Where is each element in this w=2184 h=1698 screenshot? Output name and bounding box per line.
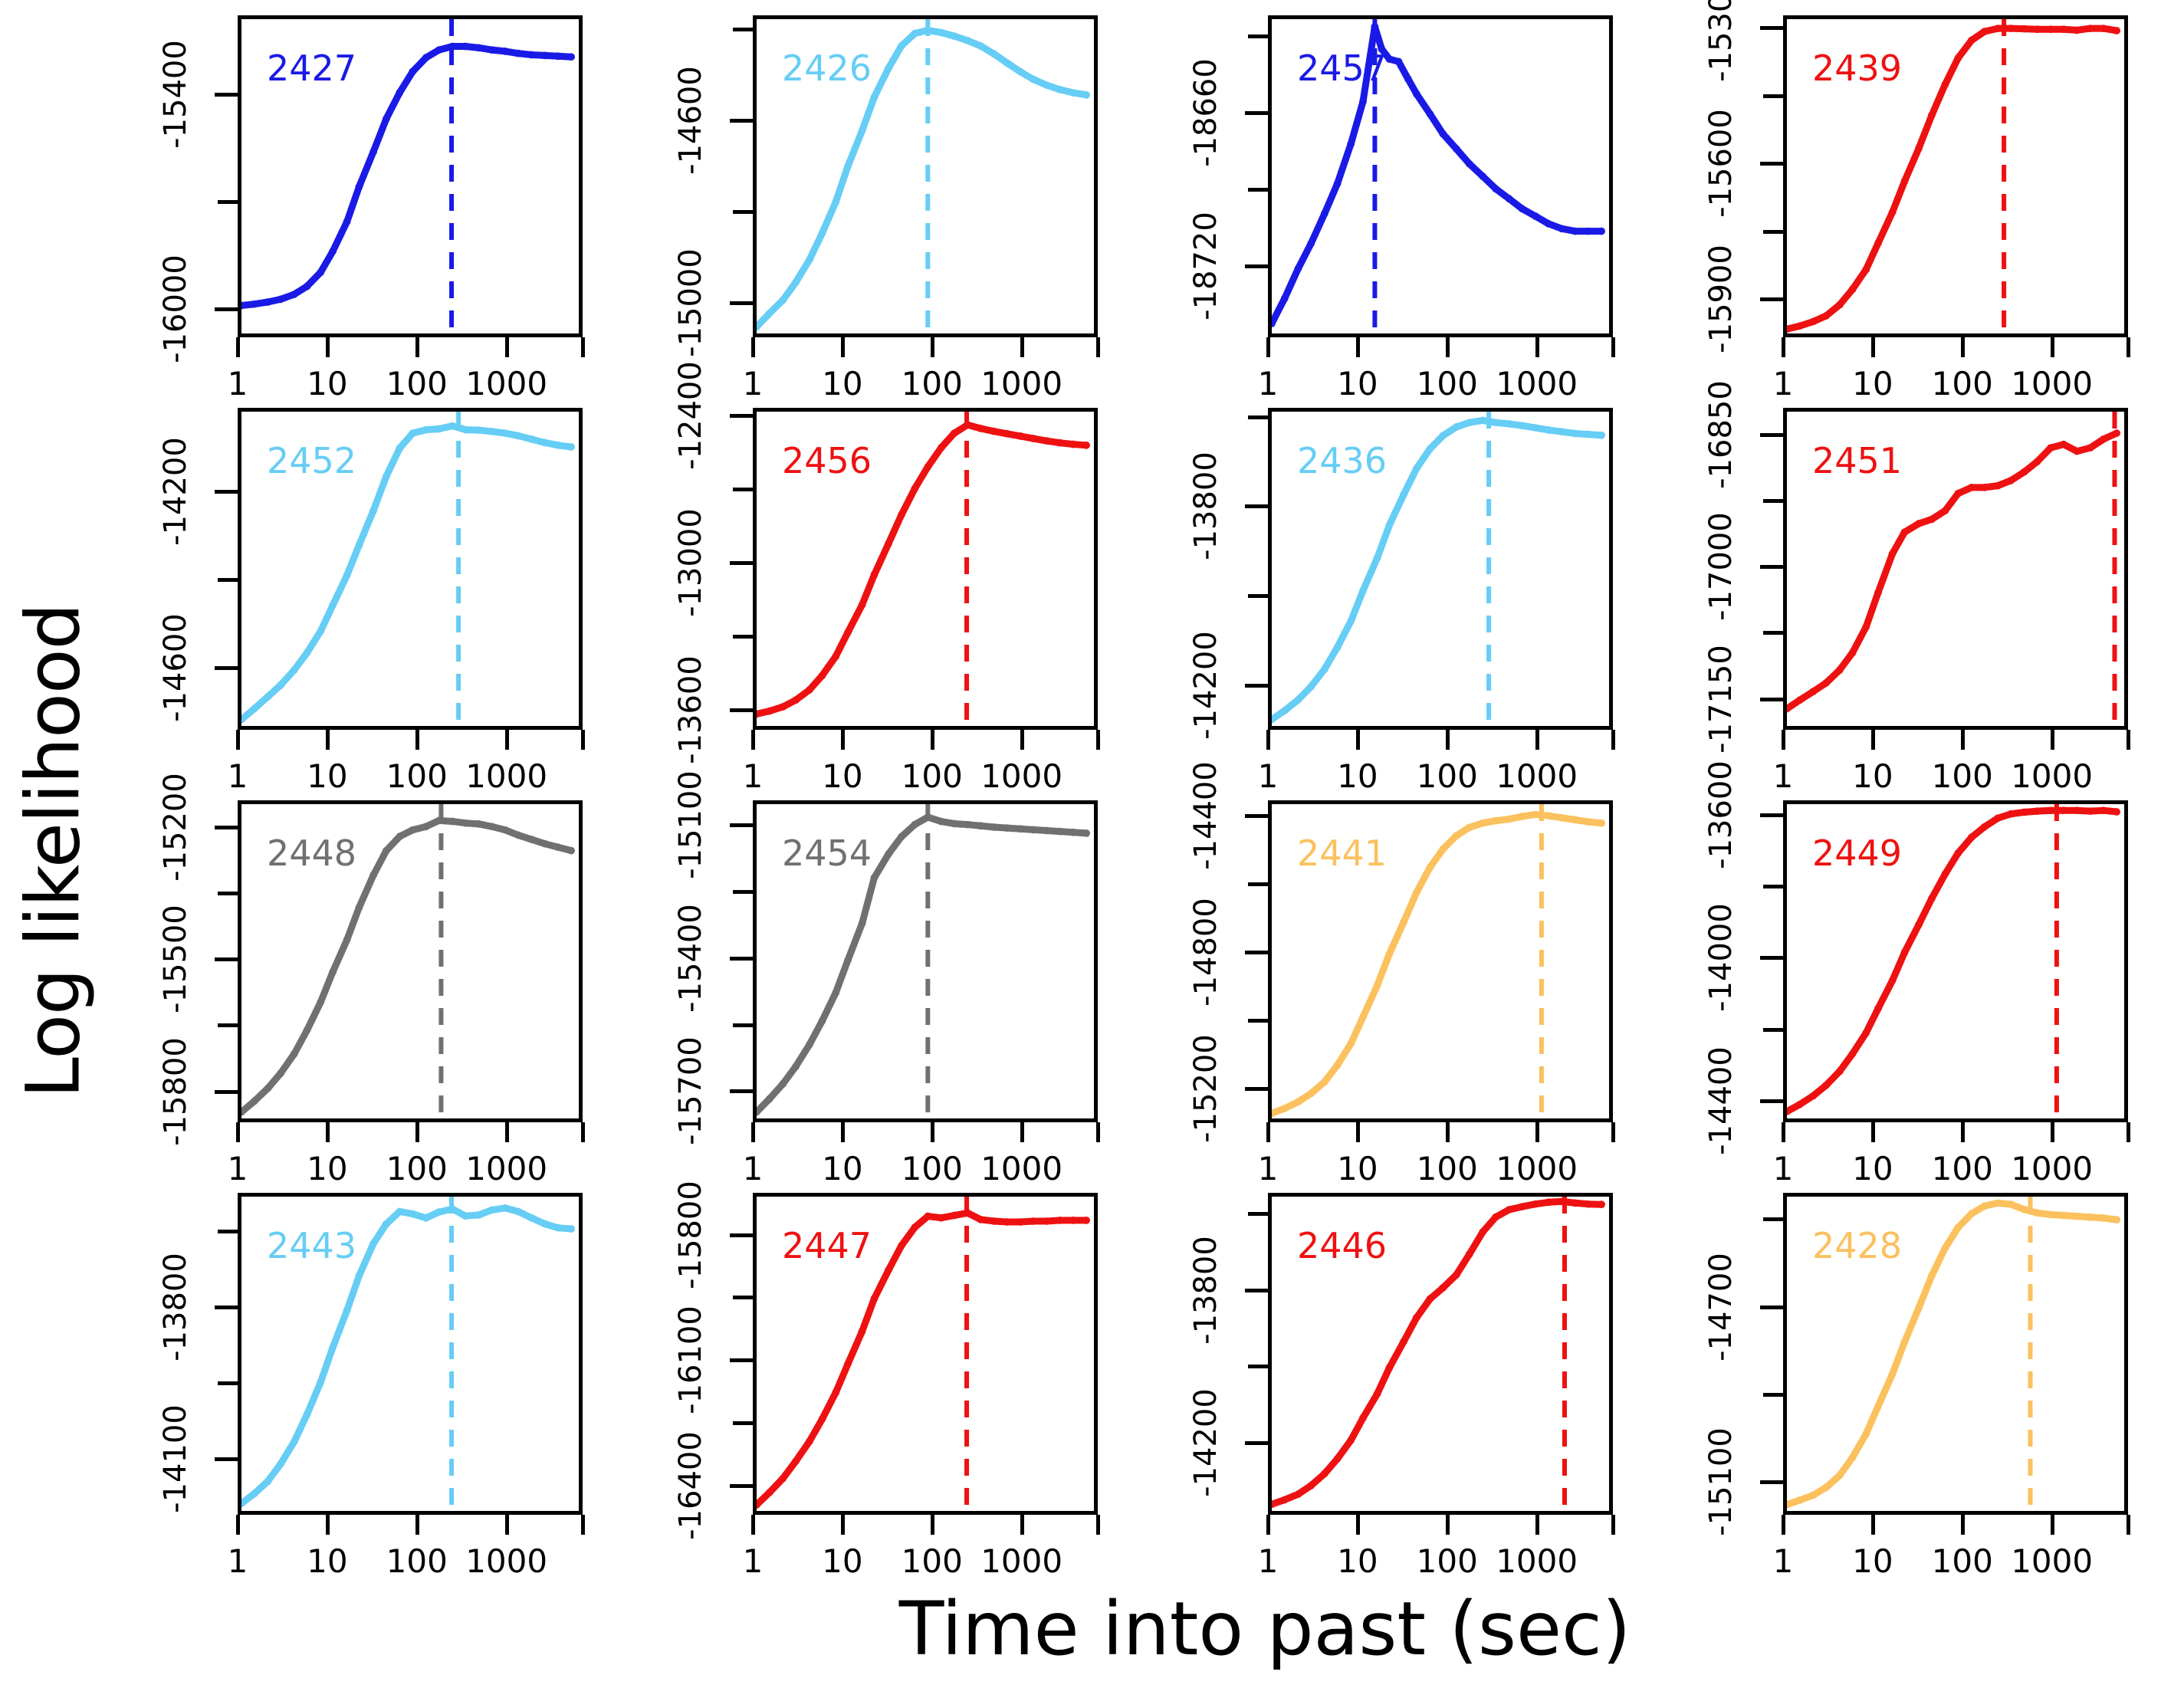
x-tick-mark [1611, 730, 1615, 750]
x-tick-label: 100 [902, 1542, 963, 1580]
x-tick-label: 1000 [2011, 1542, 2093, 1580]
panel-label-2441: 2441 [1297, 833, 1387, 874]
y-tick-label-text: -14400 [1703, 1046, 1739, 1155]
panel-label-2427: 2427 [267, 48, 356, 89]
x-tick-mark [1871, 1122, 1875, 1142]
x-tick-mark [1020, 1122, 1024, 1142]
x-tick-mark [1096, 337, 1100, 357]
y-tick-label-text: -13800 [1188, 452, 1223, 560]
y-tick-minor [1763, 230, 1783, 234]
panel-2441: 2441-14400-14800-152001101001000 [1145, 785, 1624, 1161]
panel-label-2454: 2454 [782, 833, 872, 874]
y-tick-label-text: -15600 [1703, 109, 1739, 218]
y-tick-label-text: -15900 [1703, 245, 1739, 353]
y-tick-label: -16400 [630, 1470, 745, 1501]
x-tick-mark [751, 1122, 755, 1142]
y-tick-minor [1763, 885, 1783, 888]
x-tick-mark [2051, 1122, 2054, 1142]
y-tick-label: -15900 [1660, 284, 1775, 314]
y-tick-label: -15100 [630, 810, 745, 840]
panel-2456: 2456-12400-13000-136001101001000 [630, 392, 1109, 768]
x-tick-mark [2127, 1515, 2130, 1535]
y-tick-label-text: -15100 [673, 770, 708, 879]
x-tick-label: 10 [822, 1542, 862, 1580]
x-tick-mark [1782, 730, 1785, 750]
x-tick-mark [931, 730, 934, 750]
panel-2457: 2457-18660-187201101001000 [1145, 0, 1624, 376]
y-tick-label-text: -15700 [673, 1037, 708, 1146]
x-tick-mark [751, 1515, 755, 1535]
y-axis-title: Log likelihood [0, 429, 107, 1273]
x-tick-mark [326, 1515, 330, 1535]
panel-label-2449: 2449 [1812, 833, 1902, 874]
x-tick-mark [236, 1122, 240, 1142]
x-tick-label: 10 [1852, 1542, 1893, 1580]
panel-label-2428: 2428 [1812, 1225, 1902, 1266]
panel-2439: 2439-15300-15600-159001101001000 [1660, 0, 2140, 376]
y-tick-label-text: -17150 [1703, 645, 1739, 754]
panel-label-2448: 2448 [267, 833, 356, 874]
x-tick-mark [1266, 730, 1270, 750]
x-tick-mark [1535, 730, 1539, 750]
panel-2428: 2428-14700-151001101001000 [1660, 1177, 2140, 1553]
y-tick-minor [733, 1421, 753, 1425]
y-tick-label: -14000 [1660, 942, 1775, 973]
y-tick-label-text: -12400 [673, 361, 708, 470]
y-tick-label: -14700 [1660, 1292, 1775, 1322]
y-tick-label: -14200 [115, 476, 230, 507]
panel-label-2452: 2452 [267, 440, 356, 481]
x-tick-mark [1961, 1122, 1965, 1142]
x-tick-mark [1446, 730, 1450, 750]
x-tick-mark [326, 1122, 330, 1142]
y-tick-minor [218, 200, 238, 204]
y-tick-minor [1763, 1393, 1783, 1397]
y-tick-label-text: -14600 [158, 614, 193, 723]
y-tick-label-text: -14100 [158, 1404, 193, 1513]
x-tick-mark [581, 337, 585, 357]
y-tick-minor [1763, 631, 1783, 635]
x-tick-label: 100 [386, 1542, 448, 1580]
y-tick-label-text: -15100 [1703, 1427, 1739, 1536]
x-tick-mark [581, 1515, 585, 1535]
y-tick-label-text: -13800 [1188, 1236, 1223, 1345]
x-tick-mark [326, 730, 330, 750]
x-tick-mark [1266, 1122, 1270, 1142]
x-tick-mark [505, 1122, 509, 1142]
x-tick-label: 1 [1773, 1542, 1794, 1580]
x-tick-mark [1782, 1122, 1785, 1142]
y-tick-label: -15400 [630, 943, 745, 974]
x-tick-mark [1611, 337, 1615, 357]
x-tick-mark [2127, 730, 2130, 750]
y-tick-label: -14200 [1145, 1427, 1260, 1458]
x-tick-mark [1446, 337, 1450, 357]
x-tick-mark [2127, 1122, 2130, 1142]
y-tick-label: -14400 [1145, 800, 1260, 831]
y-tick-label-text: -14600 [673, 66, 708, 175]
y-tick-label: -13800 [115, 1292, 230, 1322]
x-tick-mark [1871, 730, 1875, 750]
x-tick-mark [1961, 730, 1965, 750]
y-tick-label: -13800 [1145, 1275, 1260, 1306]
x-tick-label: 1000 [1496, 1542, 1578, 1580]
panel-2446: 2446-13800-142001101001000 [1145, 1177, 1624, 1553]
panel-label-2457: 2457 [1297, 48, 1387, 89]
x-tick-mark [581, 1122, 585, 1142]
y-tick-label: -15800 [115, 1076, 230, 1107]
y-tick-label-text: -18660 [1188, 58, 1223, 167]
y-tick-minor [733, 1023, 753, 1027]
y-tick-minor [218, 1381, 238, 1385]
x-tick-mark [236, 1515, 240, 1535]
panel-2436: 2436-13800-142001101001000 [1145, 392, 1624, 768]
y-tick-minor [218, 892, 238, 895]
y-tick-label: -16000 [115, 294, 230, 324]
y-tick-minor [733, 635, 753, 639]
x-tick-label: 1 [1258, 1542, 1279, 1580]
y-tick-label: -14400 [1660, 1085, 1775, 1116]
x-tick-mark [1096, 1122, 1100, 1142]
y-tick-label-text: -14000 [1703, 903, 1739, 1012]
y-tick-label: -13000 [630, 547, 745, 578]
x-tick-mark [841, 1515, 845, 1535]
x-tick-label: 1 [228, 1542, 248, 1580]
panel-2427: 2427-15400-160001101001000 [115, 0, 594, 376]
x-tick-mark [2051, 1515, 2054, 1535]
panel-label-2456: 2456 [782, 440, 872, 481]
y-tick-minor [733, 488, 753, 491]
panel-label-2436: 2436 [1297, 440, 1387, 481]
x-tick-mark [415, 337, 419, 357]
x-tick-mark [415, 1122, 419, 1142]
x-tick-mark [1020, 730, 1024, 750]
y-tick-label-text: -18720 [1188, 212, 1223, 320]
y-tick-label: -13800 [1145, 491, 1260, 521]
x-tick-label: 1000 [465, 1542, 547, 1580]
panel-label-2447: 2447 [782, 1225, 872, 1266]
y-tick-label-text: -13600 [1703, 760, 1739, 869]
x-tick-label: 1000 [980, 1542, 1062, 1580]
y-tick-label: -15200 [115, 812, 230, 842]
x-tick-mark [2051, 730, 2054, 750]
y-tick-label-text: -15400 [673, 904, 708, 1013]
y-tick-minor [1248, 882, 1268, 886]
y-tick-label-text: -16000 [158, 255, 193, 363]
x-tick-label: 10 [307, 1542, 347, 1580]
y-tick-label: -17000 [1660, 551, 1775, 582]
x-tick-mark [1356, 1515, 1360, 1535]
y-tick-label: -14600 [115, 652, 230, 683]
panel-2449: 2449-13600-14000-144001101001000 [1660, 785, 2140, 1161]
x-tick-mark [1535, 1515, 1539, 1535]
y-tick-label: -17150 [1660, 684, 1775, 714]
x-tick-mark [505, 337, 509, 357]
y-tick-label: -14600 [630, 105, 745, 136]
y-tick-minor [1763, 499, 1783, 503]
x-tick-mark [1020, 1515, 1024, 1535]
y-tick-label: -15600 [1660, 148, 1775, 179]
x-tick-label: 10 [1337, 1542, 1378, 1580]
y-tick-label: -14100 [115, 1443, 230, 1474]
y-tick-label: -15800 [630, 1220, 745, 1250]
x-tick-mark [841, 730, 845, 750]
y-tick-label: -15000 [630, 287, 745, 318]
y-tick-label-text: -16100 [673, 1306, 708, 1414]
y-tick-minor [1248, 1212, 1268, 1216]
y-tick-label-text: -16400 [673, 1431, 708, 1540]
x-tick-label: 100 [1417, 1542, 1478, 1580]
y-tick-minor [733, 890, 753, 894]
y-tick-minor [1248, 188, 1268, 192]
y-tick-minor [1763, 94, 1783, 98]
x-tick-mark [1096, 730, 1100, 750]
y-tick-minor [218, 578, 238, 582]
y-tick-label: -15200 [1145, 1073, 1260, 1104]
y-tick-label-text: -14400 [1188, 761, 1223, 870]
y-tick-label-text: -13600 [673, 656, 708, 765]
y-tick-label-text: -14200 [1188, 1388, 1223, 1497]
x-tick-mark [581, 730, 585, 750]
y-tick-label: -15500 [115, 944, 230, 974]
panel-2452: 2452-14200-146001101001000 [115, 392, 594, 768]
x-tick-mark [1871, 1515, 1875, 1535]
y-tick-label-text: -13800 [158, 1253, 193, 1361]
x-tick-mark [1446, 1122, 1450, 1142]
x-tick-mark [415, 1515, 419, 1535]
x-tick-mark [236, 337, 240, 357]
y-tick-label-text: -13000 [673, 508, 708, 617]
x-tick-mark [326, 337, 330, 357]
y-tick-label-text: -15500 [158, 905, 193, 1013]
figure-root: Log likelihood Time into past (sec) 2427… [0, 0, 2184, 1698]
x-tick-mark [1266, 1515, 1270, 1535]
x-tick-mark [1356, 1122, 1360, 1142]
x-tick-mark [1961, 337, 1965, 357]
x-tick-mark [1356, 337, 1360, 357]
y-tick-label-text: -15200 [158, 773, 193, 882]
y-tick-minor [733, 28, 753, 31]
y-tick-minor [1763, 1028, 1783, 1032]
y-tick-label: -15100 [1660, 1466, 1775, 1497]
y-tick-label: -18720 [1145, 251, 1260, 281]
y-tick-minor [733, 210, 753, 214]
x-tick-mark [1535, 1122, 1539, 1142]
x-tick-mark [1611, 1515, 1615, 1535]
y-tick-label-text: -14800 [1188, 898, 1223, 1007]
y-tick-label: -14200 [1145, 670, 1260, 701]
y-tick-label-text: -15400 [158, 40, 193, 149]
y-tick-minor [733, 1296, 753, 1299]
x-tick-label: 100 [1932, 1542, 1993, 1580]
x-tick-mark [1782, 337, 1785, 357]
y-tick-label-text: -15200 [1188, 1034, 1223, 1143]
y-tick-minor [1763, 1217, 1783, 1221]
x-axis-title: Time into past (sec) [767, 1579, 1763, 1679]
y-tick-label-text: -14200 [158, 437, 193, 546]
panel-2451: 2451-16850-17000-171501101001000 [1660, 392, 2140, 768]
y-tick-label: -15700 [630, 1076, 745, 1106]
x-tick-mark [505, 730, 509, 750]
x-tick-mark [751, 337, 755, 357]
y-tick-label-text: -16850 [1703, 380, 1739, 489]
y-tick-minor [1248, 594, 1268, 598]
y-tick-minor [1248, 415, 1268, 419]
y-tick-label-text: -17000 [1703, 512, 1739, 621]
x-tick-mark [841, 1122, 845, 1142]
x-tick-mark [841, 337, 845, 357]
x-tick-mark [931, 1515, 934, 1535]
y-tick-minor [1248, 1365, 1268, 1368]
panel-label-2443: 2443 [267, 1225, 356, 1266]
panel-label-2439: 2439 [1812, 48, 1902, 89]
x-tick-mark [1096, 1515, 1100, 1535]
y-tick-label: -12400 [630, 400, 745, 431]
y-tick-label: -15400 [115, 79, 230, 110]
y-tick-label-text: -14700 [1703, 1253, 1739, 1361]
y-tick-label: -14800 [1145, 937, 1260, 967]
y-tick-label: -13600 [630, 695, 745, 725]
panel-grid: 2427-15400-1600011010010002426-14600-150… [115, 0, 2184, 1572]
y-tick-minor [218, 1023, 238, 1027]
x-tick-label: 1 [743, 1542, 764, 1580]
y-tick-minor [1248, 34, 1268, 38]
x-tick-mark [1446, 1515, 1450, 1535]
y-axis-title-text: Log likelihood [11, 603, 97, 1098]
x-tick-mark [1611, 1122, 1615, 1142]
x-tick-mark [1782, 1515, 1785, 1535]
x-tick-mark [236, 730, 240, 750]
x-tick-mark [1020, 337, 1024, 357]
x-tick-mark [1356, 730, 1360, 750]
x-tick-mark [1871, 337, 1875, 357]
panel-2454: 2454-15100-15400-157001101001000 [630, 785, 1109, 1161]
panel-label-2446: 2446 [1297, 1225, 1387, 1266]
x-tick-mark [931, 337, 934, 357]
x-tick-mark [2051, 337, 2054, 357]
x-tick-mark [1535, 337, 1539, 357]
panel-label-2451: 2451 [1812, 440, 1902, 481]
y-tick-label: -16100 [630, 1345, 745, 1375]
panel-2447: 2447-15800-16100-164001101001000 [630, 1177, 1109, 1553]
y-tick-label: -15300 [1660, 12, 1775, 43]
panel-label-2426: 2426 [782, 48, 872, 89]
x-tick-mark [415, 730, 419, 750]
y-tick-label-text: -14200 [1188, 631, 1223, 740]
x-tick-mark [751, 730, 755, 750]
panel-2448: 2448-15200-15500-158001101001000 [115, 785, 594, 1161]
y-tick-label: -16850 [1660, 419, 1775, 450]
y-tick-label-text: -15800 [158, 1037, 193, 1146]
y-tick-minor [1248, 1019, 1268, 1023]
y-tick-label-text: -15800 [673, 1181, 708, 1289]
y-tick-label: -18660 [1145, 97, 1260, 128]
panel-2426: 2426-14600-150001101001000 [630, 0, 1109, 376]
panel-2443: 2443-13800-141001101001000 [115, 1177, 594, 1553]
x-tick-mark [505, 1515, 509, 1535]
x-tick-mark [1961, 1515, 1965, 1535]
x-tick-mark [1266, 337, 1270, 357]
x-tick-mark [931, 1122, 934, 1142]
y-tick-label-text: -15000 [673, 248, 708, 357]
x-tick-mark [2127, 337, 2130, 357]
y-tick-label-text: -15300 [1703, 0, 1739, 82]
y-tick-minor [218, 1230, 238, 1233]
y-tick-label: -13600 [1660, 800, 1775, 830]
